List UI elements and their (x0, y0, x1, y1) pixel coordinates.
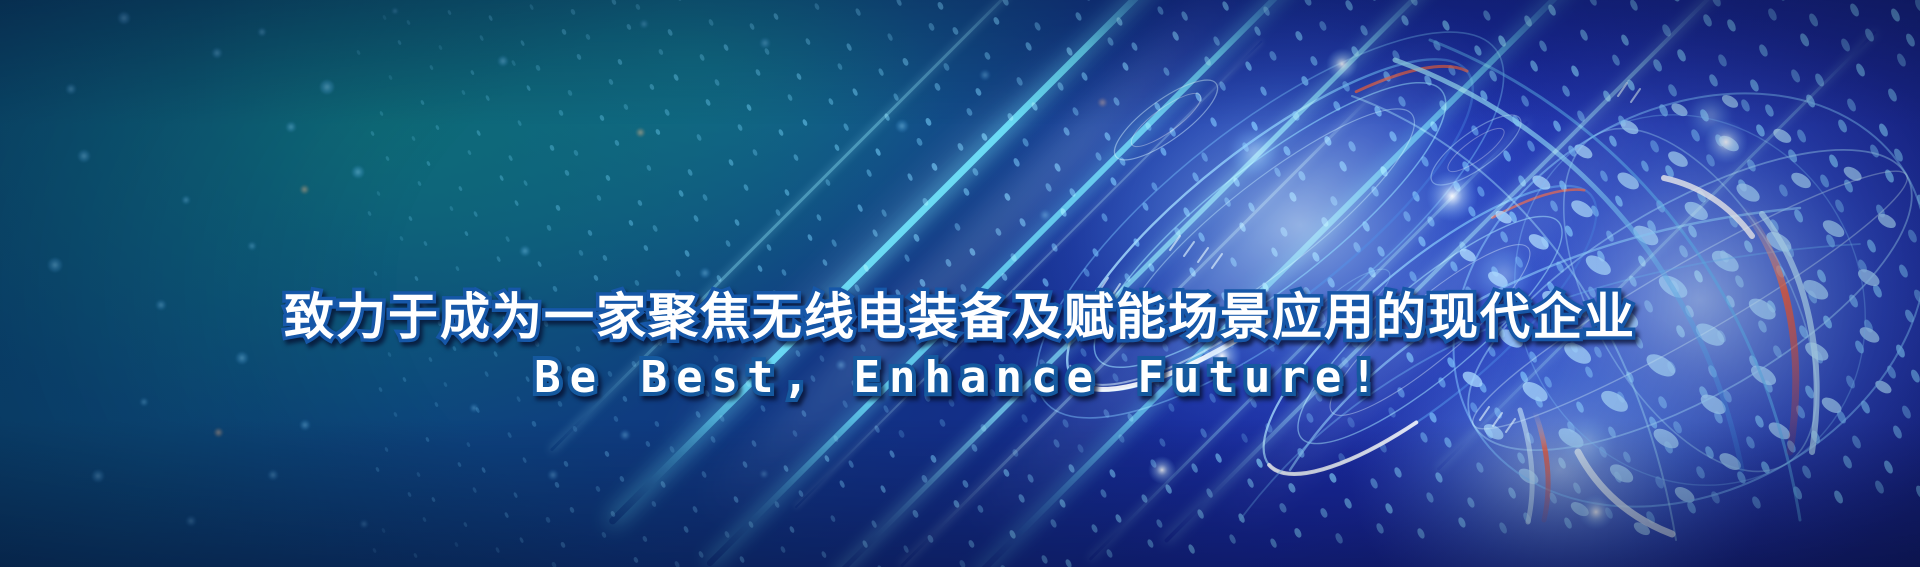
perspective-dot-matrix (0, 0, 1920, 567)
right-glow-wash (0, 0, 1920, 567)
banner-tagline-english: Be Best, Enhance Future! (0, 352, 1920, 404)
tech-globe-graphic (0, 0, 1920, 567)
banner-headline-chinese: 致力于成为一家聚焦无线电装备及赋能场景应用的现代企业 (0, 288, 1920, 346)
diagonal-light-beams (0, 0, 1920, 567)
banner-text-block: 致力于成为一家聚焦无线电装备及赋能场景应用的现代企业 Be Best, Enha… (0, 288, 1920, 404)
vignette-overlay (0, 0, 1920, 567)
hero-banner: 致力于成为一家聚焦无线电装备及赋能场景应用的现代企业 Be Best, Enha… (0, 0, 1920, 567)
bokeh-glow-dots (0, 0, 1920, 567)
background-gradient (0, 0, 1920, 567)
